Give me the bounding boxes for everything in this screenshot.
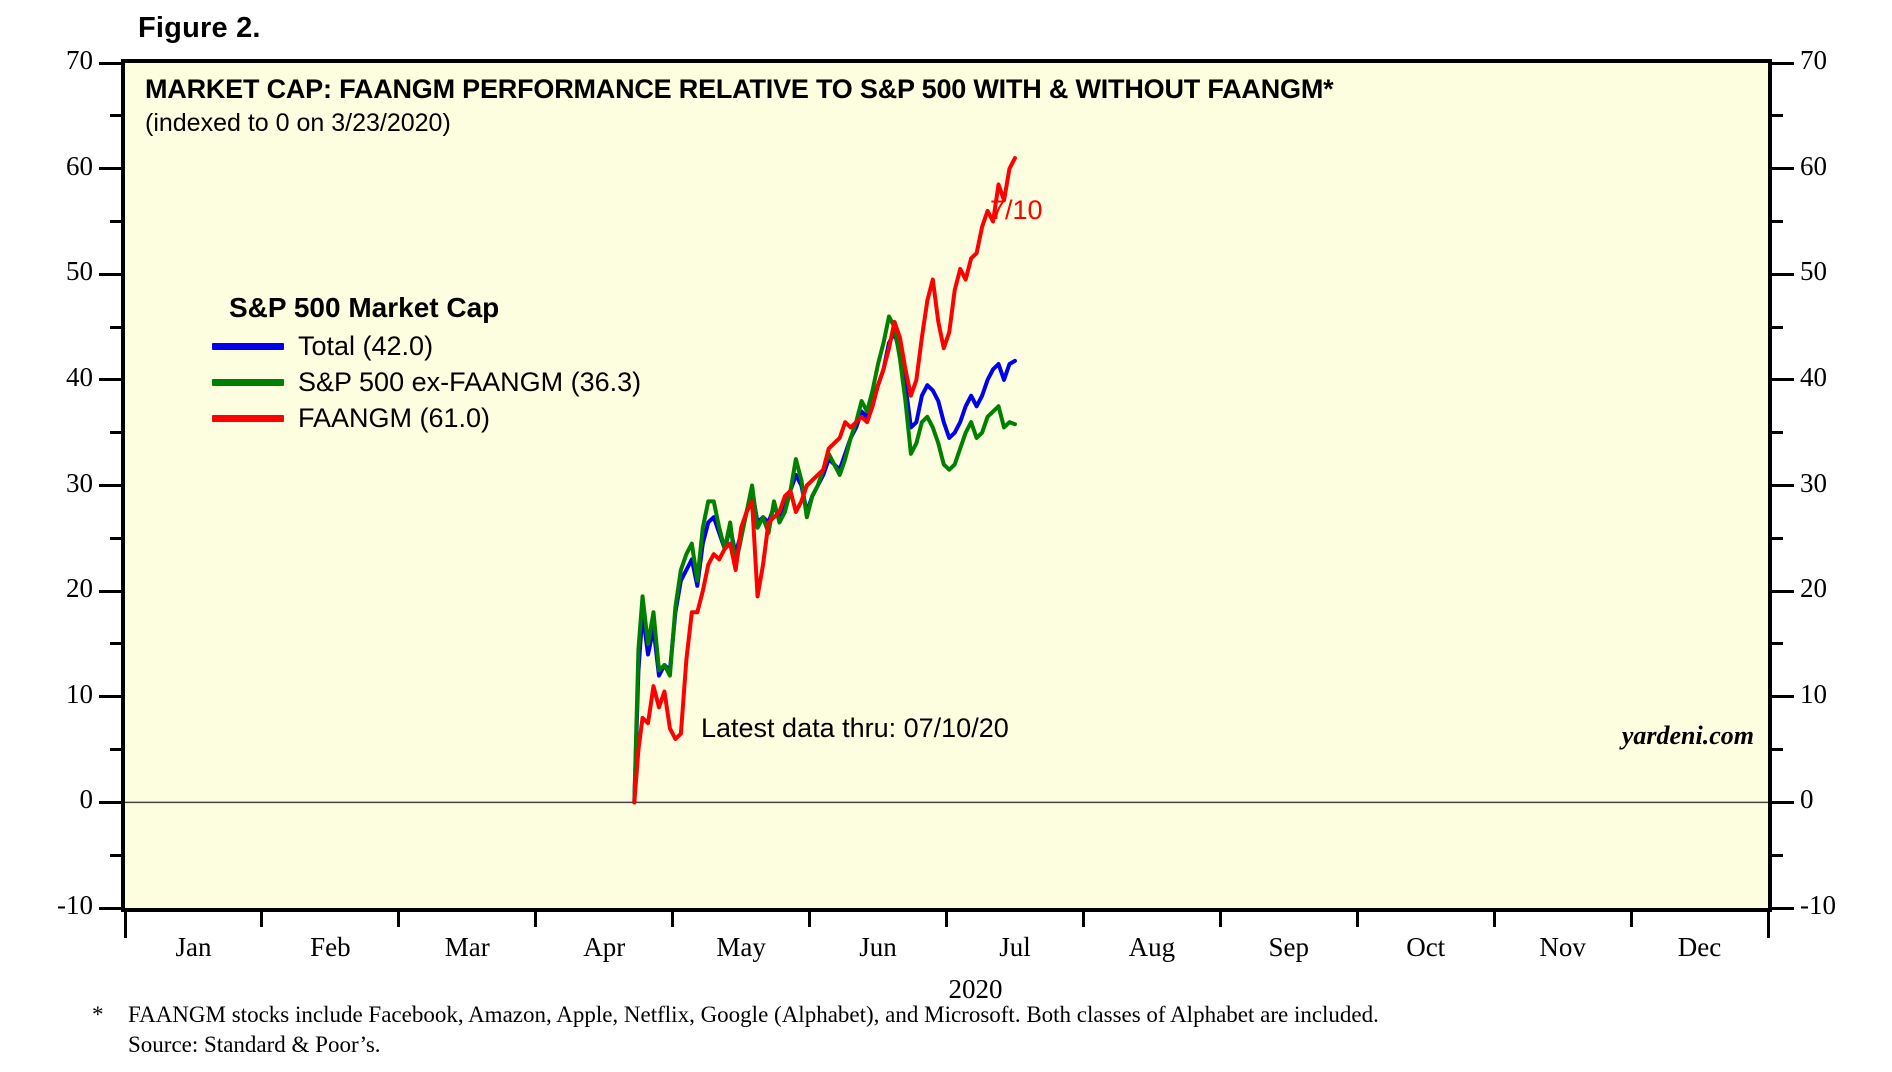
y-tick-major-right [1772, 907, 1794, 910]
y-tick-label-left: 40 [0, 362, 93, 393]
latest-data-note: Latest data thru: 07/10/20 [701, 713, 1009, 744]
y-tick-major-right [1772, 167, 1794, 170]
x-tick-label-jan: Jan [133, 932, 253, 963]
legend-swatch-faangm [212, 415, 284, 422]
y-tick-minor-left [110, 748, 121, 751]
x-tick-label-jun: Jun [818, 932, 938, 963]
y-tick-minor-left [110, 114, 121, 117]
x-tick [124, 912, 127, 938]
x-tick-label-feb: Feb [270, 932, 390, 963]
footnote-star: * [92, 1000, 128, 1030]
y-tick-major-left [99, 62, 121, 65]
y-tick-label-right: 50 [1800, 256, 1890, 287]
x-tick [260, 912, 263, 927]
y-tick-minor-right [1772, 114, 1783, 117]
y-tick-major-right [1772, 801, 1794, 804]
y-tick-major-right [1772, 378, 1794, 381]
y-tick-label-right: 20 [1800, 573, 1890, 604]
endpoint-date-label: 7/10 [990, 195, 1043, 226]
x-tick [671, 912, 674, 927]
footnote-line-1: * FAANGM stocks include Facebook, Amazon… [92, 1000, 1379, 1030]
footnote-text-1: FAANGM stocks include Facebook, Amazon, … [128, 1000, 1379, 1030]
y-tick-minor-right [1772, 748, 1783, 751]
x-tick [534, 912, 537, 927]
y-tick-label-left: 60 [0, 151, 93, 182]
x-tick-label-nov: Nov [1503, 932, 1623, 963]
y-tick-label-left: 20 [0, 573, 93, 604]
x-tick [397, 912, 400, 927]
x-tick-label-may: May [681, 932, 801, 963]
footnote-line-2: Source: Standard & Poor’s. [92, 1030, 1379, 1060]
x-tick-label-apr: Apr [544, 932, 664, 963]
footnotes: * FAANGM stocks include Facebook, Amazon… [92, 1000, 1379, 1061]
legend-label-faangm: FAANGM (61.0) [298, 405, 490, 432]
y-tick-major-left [99, 590, 121, 593]
legend-swatch-ex-faangm [212, 379, 284, 386]
y-tick-major-right [1772, 273, 1794, 276]
y-tick-label-right: 0 [1800, 784, 1890, 815]
y-tick-major-left [99, 484, 121, 487]
legend-label-total: Total (42.0) [298, 333, 433, 360]
y-tick-major-left [99, 907, 121, 910]
y-tick-major-left [99, 378, 121, 381]
legend-item-total[interactable]: Total (42.0) [212, 328, 641, 364]
legend-label-ex-faangm: S&P 500 ex-FAANGM (36.3) [298, 369, 641, 396]
x-tick [1356, 912, 1359, 927]
legend-title: S&P 500 Market Cap [229, 292, 641, 324]
chart-legend: S&P 500 Market Cap Total (42.0) S&P 500 … [212, 292, 641, 436]
x-tick [808, 912, 811, 927]
x-tick-label-aug: Aug [1092, 932, 1212, 963]
y-tick-minor-right [1772, 431, 1783, 434]
y-tick-major-left [99, 273, 121, 276]
yardeni-watermark: yardeni.com [1622, 721, 1754, 751]
legend-swatch-total [212, 343, 284, 350]
x-tick [1219, 912, 1222, 927]
x-tick-label-oct: Oct [1366, 932, 1486, 963]
footnote-text-2: Source: Standard & Poor’s. [128, 1030, 381, 1060]
x-tick [945, 912, 948, 927]
x-tick-label-sep: Sep [1229, 932, 1349, 963]
y-tick-minor-right [1772, 326, 1783, 329]
x-tick [1082, 912, 1085, 927]
x-tick-label-jul: Jul [955, 932, 1075, 963]
y-tick-minor-right [1772, 854, 1783, 857]
chart-plot-frame: MARKET CAP: FAANGM PERFORMANCE RELATIVE … [121, 59, 1772, 912]
y-tick-major-right [1772, 590, 1794, 593]
chart-canvas [125, 63, 1768, 908]
x-tick-label-mar: Mar [407, 932, 527, 963]
y-tick-major-left [99, 167, 121, 170]
y-tick-minor-left [110, 537, 121, 540]
figure-label: Figure 2. [138, 12, 261, 45]
y-tick-minor-left [110, 220, 121, 223]
y-tick-label-right: 10 [1800, 679, 1890, 710]
legend-item-ex-faangm[interactable]: S&P 500 ex-FAANGM (36.3) [212, 364, 641, 400]
y-tick-minor-right [1772, 642, 1783, 645]
legend-item-faangm[interactable]: FAANGM (61.0) [212, 400, 641, 436]
y-tick-label-right: 60 [1800, 151, 1890, 182]
y-tick-label-left: 30 [0, 468, 93, 499]
x-tick-label-dec: Dec [1640, 932, 1760, 963]
y-tick-minor-right [1772, 537, 1783, 540]
y-tick-minor-left [110, 854, 121, 857]
y-tick-label-left: 50 [0, 256, 93, 287]
y-tick-minor-left [110, 642, 121, 645]
y-tick-major-left [99, 695, 121, 698]
y-tick-label-right: 40 [1800, 362, 1890, 393]
y-tick-major-right [1772, 484, 1794, 487]
series-line-2 [634, 158, 1015, 802]
y-tick-major-left [99, 801, 121, 804]
y-tick-minor-right [1772, 220, 1783, 223]
y-tick-label-right: 30 [1800, 468, 1890, 499]
y-tick-major-right [1772, 62, 1794, 65]
y-tick-label-left: 0 [0, 784, 93, 815]
x-tick [1630, 912, 1633, 927]
y-tick-label-right: -10 [1800, 890, 1890, 921]
x-tick [1493, 912, 1496, 927]
y-tick-label-left: 10 [0, 679, 93, 710]
y-tick-label-right: 70 [1800, 45, 1890, 76]
y-tick-label-left: 70 [0, 45, 93, 76]
y-tick-minor-left [110, 431, 121, 434]
chart-page: Figure 2. MARKET CAP: FAANGM PERFORMANCE… [0, 0, 1892, 1072]
x-tick [1767, 912, 1770, 938]
y-tick-label-left: -10 [0, 890, 93, 921]
y-tick-major-right [1772, 695, 1794, 698]
y-tick-minor-left [110, 326, 121, 329]
